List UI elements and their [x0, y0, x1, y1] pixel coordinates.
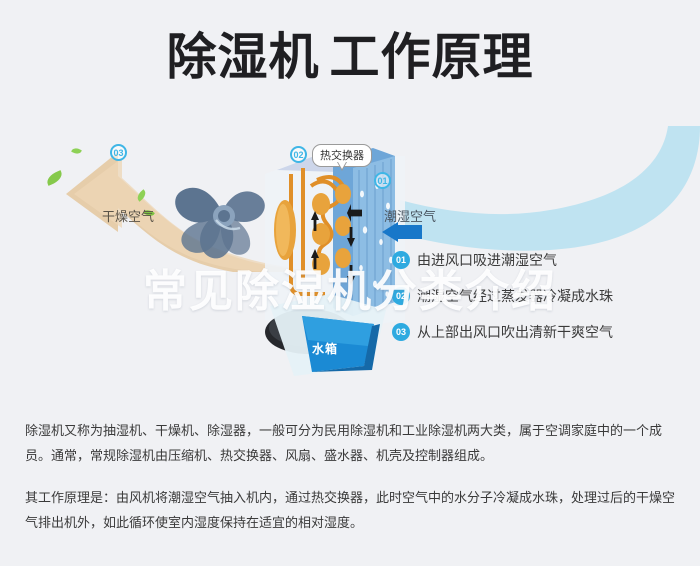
callout-badge-02: 02 [290, 146, 307, 163]
legend-text-03: 从上部出风口吹出清新干爽空气 [417, 322, 613, 342]
legend-badge-03: 03 [392, 323, 410, 341]
description-paragraph-1: 除湿机又称为抽湿机、干燥机、除湿器，一般可分为民用除湿机和工业除湿机两大类，属于… [25, 418, 675, 468]
description-paragraph-2: 其工作原理是：由风机将潮湿空气抽入机内，通过热交换器，此时空气中的水分子冷凝成水… [25, 485, 675, 535]
infographic-page: 除湿机工作原理 [0, 0, 700, 566]
dry-air-label: 干燥空气 [102, 206, 154, 225]
intake-arrow-icon [382, 222, 422, 242]
callout-badge-01: 01 [374, 172, 391, 189]
callout-pointer-icon [337, 162, 347, 171]
legend-badge-01: 01 [392, 251, 410, 269]
legend-text-02: 潮湿空气经过蒸发器冷凝成水珠 [417, 286, 613, 306]
legend-item: 03 从上部出风口吹出清新干爽空气 [392, 322, 692, 342]
legend-item: 02 潮湿空气经过蒸发器冷凝成水珠 [392, 286, 692, 306]
humid-air-swoosh-icon [400, 126, 700, 256]
legend-badge-02: 02 [392, 287, 410, 305]
title-part-two: 工作原理 [330, 29, 534, 85]
water-tank-icon [268, 294, 388, 378]
legend-item: 01 由进风口吸进潮湿空气 [392, 250, 692, 270]
legend-list: 01 由进风口吸进潮湿空气 02 潮湿空气经过蒸发器冷凝成水珠 03 从上部出风… [392, 250, 692, 358]
water-tank-label: 水箱 [312, 340, 338, 357]
title-part-one: 除湿机 [167, 29, 320, 85]
callout-badge-03: 03 [110, 144, 127, 161]
page-title: 除湿机工作原理 [0, 26, 700, 88]
legend-text-01: 由进风口吸进潮湿空气 [417, 250, 557, 270]
humid-air-label: 潮湿空气 [384, 206, 436, 225]
